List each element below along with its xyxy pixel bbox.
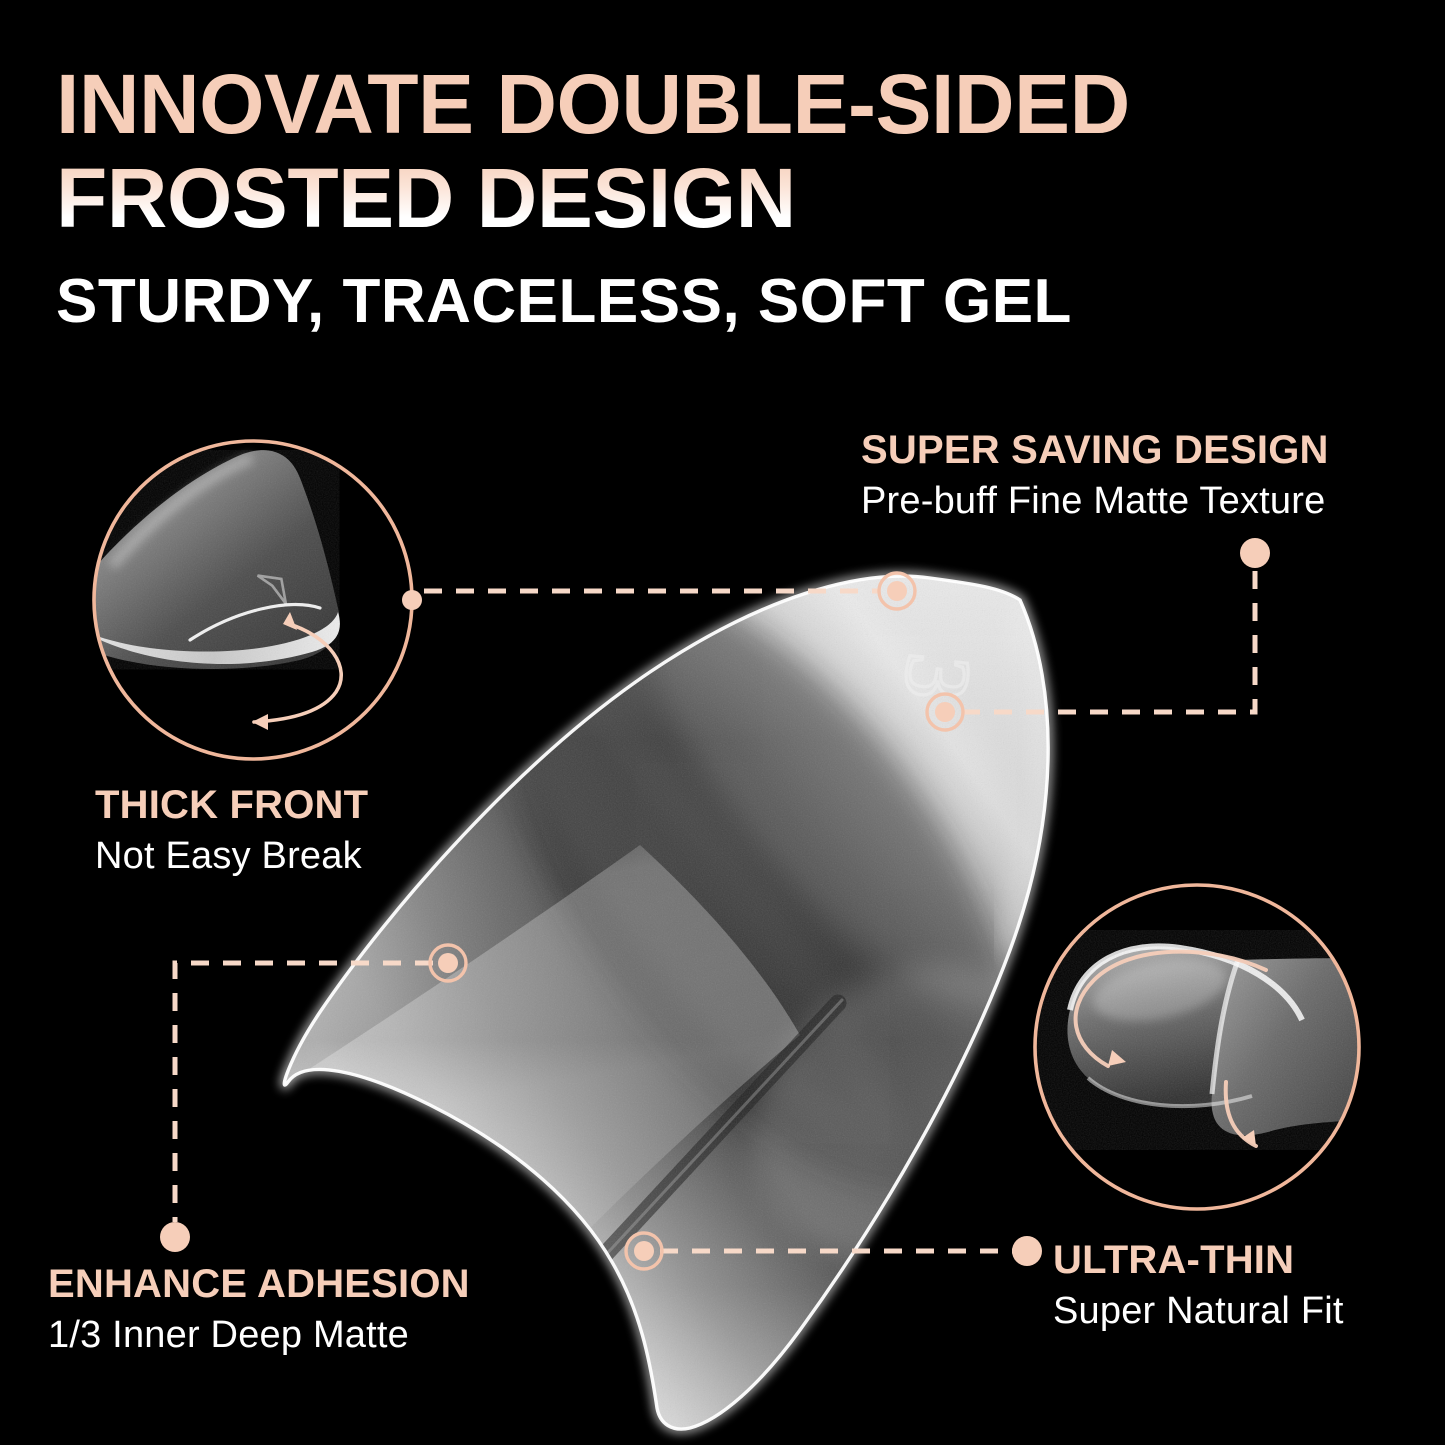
- bend-arrows: [1076, 952, 1266, 1146]
- inset-ring: [1035, 885, 1359, 1209]
- callout-title: THICK FRONT: [95, 783, 368, 827]
- connector-node: [402, 590, 422, 610]
- headline-line-2: FROSTED DESIGN: [56, 156, 1396, 242]
- thick-front-inset: [58, 441, 422, 759]
- callout-subtitle: Super Natural Fit: [1053, 1290, 1344, 1334]
- callout-title: ENHANCE ADHESION: [48, 1262, 470, 1306]
- callout-hotspots: [430, 573, 963, 1269]
- terminal-dot-ultra-thin: [1012, 1236, 1042, 1266]
- callout-subtitle: Not Easy Break: [95, 835, 368, 879]
- callout-terminal-dots: [160, 538, 1270, 1266]
- terminal-dot-super-saving: [1240, 538, 1270, 568]
- connector-super-saving: [962, 568, 1255, 712]
- callout-enhance-adhesion: ENHANCE ADHESION 1/3 Inner Deep Matte: [48, 1262, 470, 1358]
- headline-line-1: INNOVATE DOUBLE-SIDED: [56, 62, 1396, 148]
- callout-ultra-thin: ULTRA-THIN Super Natural Fit: [1053, 1238, 1344, 1334]
- rotation-arrows: [190, 605, 341, 722]
- hotspot-thick-front: [879, 573, 915, 609]
- callout-super-saving-design: SUPER SAVING DESIGN Pre-buff Fine Matte …: [861, 428, 1329, 524]
- hotspot-super-saving: [927, 694, 963, 730]
- callout-title: ULTRA-THIN: [1053, 1238, 1344, 1282]
- hotspot-ultra-thin: [626, 1233, 662, 1269]
- callout-connectors: [175, 568, 1255, 1251]
- product-infographic: 3: [0, 0, 1445, 1445]
- headline-subtitle: STURDY, TRACELESS, SOFT GEL: [56, 269, 1396, 334]
- hotspot-enhance-adhesion: [430, 945, 466, 981]
- callout-thick-front: THICK FRONT Not Easy Break: [95, 783, 368, 879]
- size-marking-3: 3: [885, 649, 991, 705]
- connector-enhance-adhesion: [175, 963, 433, 1222]
- headline-block: INNOVATE DOUBLE-SIDED FROSTED DESIGN STU…: [56, 62, 1396, 334]
- callout-subtitle: Pre-buff Fine Matte Texture: [861, 480, 1329, 524]
- callout-subtitle: 1/3 Inner Deep Matte: [48, 1314, 470, 1358]
- ultra-thin-inset: [1030, 885, 1410, 1209]
- terminal-dot-enhance-adhesion: [160, 1222, 190, 1252]
- inset-ring: [94, 441, 412, 759]
- callout-title: SUPER SAVING DESIGN: [861, 428, 1329, 472]
- svg-text:3: 3: [885, 649, 991, 705]
